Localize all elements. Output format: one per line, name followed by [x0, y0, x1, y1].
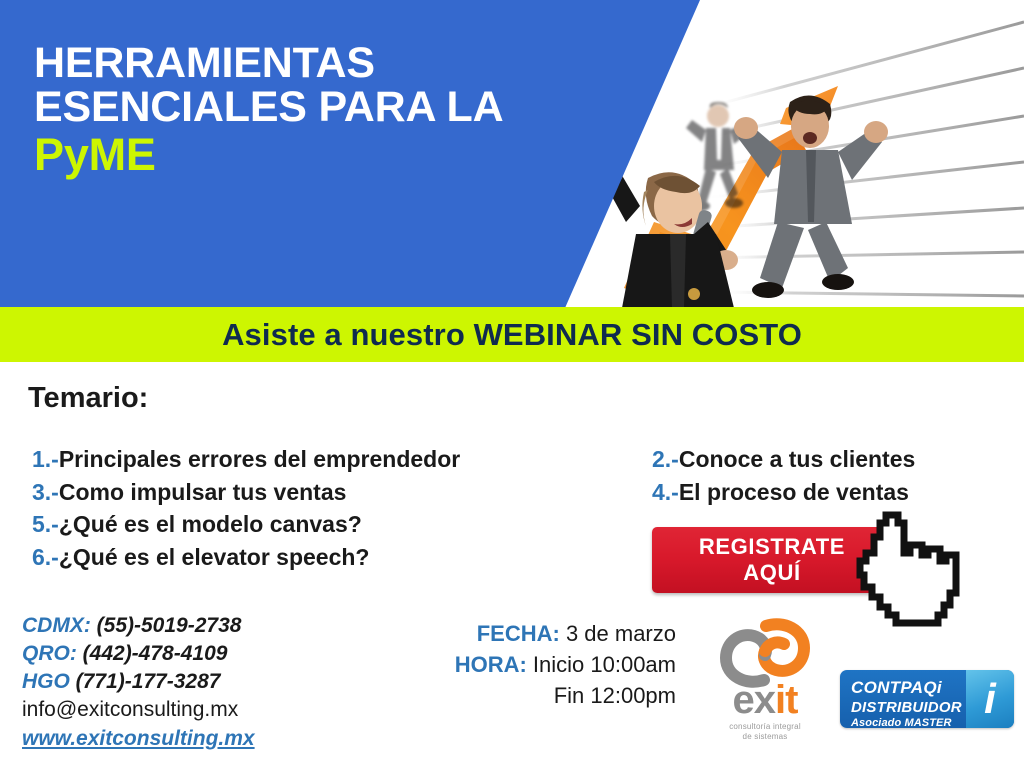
exit-tagline-line-2: de sistemas: [706, 732, 824, 742]
contpaq-i-glyph: i: [966, 670, 1014, 728]
contact-cdmx: CDMX: (55)-5019-2738: [22, 612, 255, 640]
agenda-text: Principales errores del emprendedor: [59, 446, 460, 472]
exit-wordmark: exit: [706, 680, 824, 720]
page-title-temario: Temario:: [28, 382, 148, 415]
schedule-fecha-label: FECHA:: [477, 621, 560, 646]
exit-wordmark-ex: ex: [733, 678, 776, 722]
agenda-number: 4.-: [652, 479, 679, 505]
contact-qro-phone: (442)-478-4109: [77, 642, 228, 665]
contpaq-line-2: DISTRIBUIDOR: [851, 699, 962, 716]
exit-tagline: consultoría integral de sistemas: [706, 722, 824, 742]
list-item: 4.-El proceso de ventas: [652, 476, 1022, 509]
contpaq-text-block: CONTPAQi DISTRIBUIDOR Asociado MASTER: [851, 678, 962, 728]
schedule-hora-label: HORA:: [455, 652, 527, 677]
exit-logo: exit consultoría integral de sistemas: [706, 618, 824, 750]
hero-section: HERRAMIENTAS ESENCIALES PARA LA PyME: [0, 0, 1024, 308]
list-item: 2.-Conoce a tus clientes: [652, 443, 1022, 476]
agenda-column-left: 1.-Principales errores del emprendedor 3…: [32, 443, 632, 574]
agenda-number: 2.-: [652, 446, 679, 472]
contpaq-line-1: CONTPAQi: [851, 678, 962, 698]
contact-cdmx-phone: (55)-5019-2738: [91, 614, 242, 637]
agenda-number: 1.-: [32, 446, 59, 472]
contact-hgo-phone: (771)-177-3287: [70, 670, 221, 693]
register-cta-group: REGISTRATE AQUÍ: [652, 527, 892, 593]
register-button[interactable]: REGISTRATE AQUÍ: [652, 527, 892, 593]
contact-website[interactable]: www.exitconsulting.mx: [22, 725, 255, 753]
list-item: 5.-¿Qué es el modelo canvas?: [32, 508, 632, 541]
headline-line-1: HERRAMIENTAS: [34, 42, 594, 86]
exit-wordmark-it: it: [775, 678, 797, 722]
register-button-line-2: AQUÍ: [743, 560, 800, 586]
agenda-text: El proceso de ventas: [679, 479, 909, 505]
list-item: 1.-Principales errores del emprendedor: [32, 443, 632, 476]
schedule-hora: HORA: Inicio 10:00am: [380, 649, 676, 680]
woman-on-phone-figure: [596, 160, 758, 308]
agenda-text: ¿Qué es el modelo canvas?: [59, 511, 362, 537]
register-button-line-1: REGISTRATE: [699, 534, 845, 560]
contact-qro-label: QRO:: [22, 642, 77, 665]
agenda-number: 3.-: [32, 479, 59, 505]
agenda-text: Conoce a tus clientes: [679, 446, 915, 472]
agenda-column-right: 2.-Conoce a tus clientes 4.-El proceso d…: [652, 443, 1022, 508]
headline-block: HERRAMIENTAS ESENCIALES PARA LA PyME: [34, 42, 594, 178]
schedule-hora-value: Inicio 10:00am: [527, 652, 676, 677]
poster-canvas: HERRAMIENTAS ESENCIALES PARA LA PyME Asi…: [0, 0, 1024, 768]
list-item: 6.-¿Qué es el elevator speech?: [32, 541, 632, 574]
contact-hgo: HGO (771)-177-3287: [22, 668, 255, 696]
headline-accent-pyme: PyME: [34, 132, 594, 178]
exit-tagline-line-1: consultoría integral: [706, 722, 824, 732]
contact-email[interactable]: info@exitconsulting.mx: [22, 696, 255, 724]
schedule-fecha: FECHA: 3 de marzo: [380, 618, 676, 649]
contpaq-distribuidor-logo: i CONTPAQi DISTRIBUIDOR Asociado MASTER: [840, 670, 1014, 728]
contact-qro: QRO: (442)-478-4109: [22, 640, 255, 668]
contpaq-line-3: Asociado MASTER: [851, 717, 962, 728]
list-item: 3.-Como impulsar tus ventas: [32, 476, 632, 509]
agenda-number: 6.-: [32, 544, 59, 570]
contact-block: CDMX: (55)-5019-2738 QRO: (442)-478-4109…: [22, 612, 255, 753]
webinar-banner: Asiste a nuestro WEBINAR SIN COSTO: [0, 307, 1024, 362]
agenda-number: 5.-: [32, 511, 59, 537]
contact-cdmx-label: CDMX:: [22, 614, 91, 637]
schedule-hora-end: Fin 12:00pm: [380, 680, 676, 711]
schedule-fecha-value: 3 de marzo: [560, 621, 676, 646]
contact-hgo-label: HGO: [22, 670, 70, 693]
schedule-block: FECHA: 3 de marzo HORA: Inicio 10:00am F…: [380, 618, 676, 712]
headline-line-2: ESENCIALES PARA LA: [34, 86, 594, 130]
agenda-text: Como impulsar tus ventas: [59, 479, 347, 505]
agenda-text: ¿Qué es el elevator speech?: [59, 544, 370, 570]
banner-text: Asiste a nuestro WEBINAR SIN COSTO: [222, 317, 802, 353]
